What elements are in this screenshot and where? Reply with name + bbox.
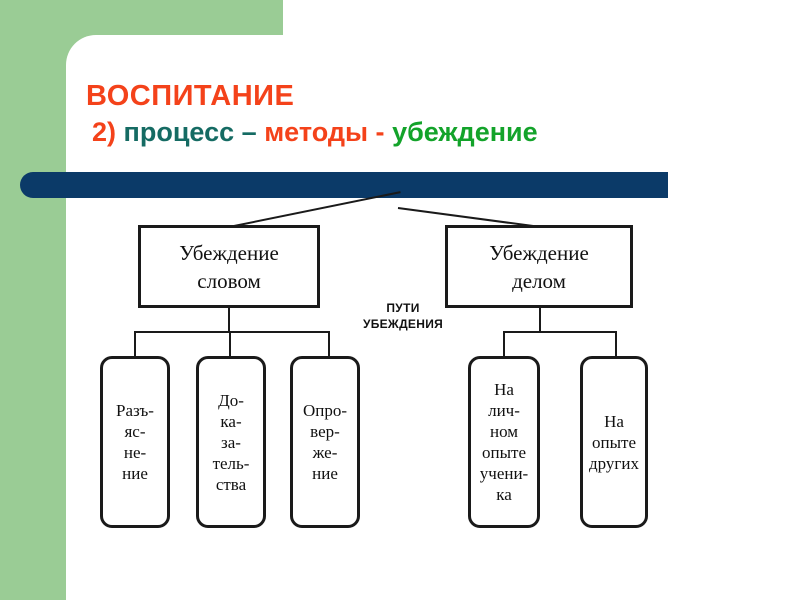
node-own-experience-line-6: ка [496, 484, 512, 505]
node-refutation-line-1: Опро- [303, 400, 347, 421]
node-explanation-line-2: яс- [124, 421, 145, 442]
node-own-experience-line-4: опыте [482, 442, 526, 463]
persuasion-methods-diagram: Убеждение словом Убеждение делом ПУТИ УБ… [0, 0, 800, 600]
node-proof[interactable]: До- ка- за- тель- ства [196, 356, 266, 528]
node-explanation[interactable]: Разъ- яс- не- ние [100, 356, 170, 528]
diagram-center-caption-line-2: УБЕЖДЕНИЯ [348, 316, 458, 332]
node-others-experience-line-2: опыте [592, 432, 636, 453]
node-refutation-line-3: же- [313, 442, 338, 463]
connector-word-to-proof [229, 331, 231, 357]
node-own-experience[interactable]: На лич- ном опыте учени- ка [468, 356, 540, 528]
node-proof-line-3: за- [221, 432, 241, 453]
connector-word-to-explanation [134, 331, 136, 357]
node-persuasion-by-word-line-2: словом [197, 267, 260, 295]
node-proof-line-5: ства [216, 474, 246, 495]
diagram-center-caption: ПУТИ УБЕЖДЕНИЯ [348, 300, 458, 332]
node-explanation-line-3: не- [124, 442, 146, 463]
connector-word-to-refutation [328, 331, 330, 357]
node-own-experience-line-5: учени- [480, 463, 528, 484]
node-proof-line-1: До- [218, 390, 244, 411]
connector-apex-to-word [229, 191, 401, 228]
node-explanation-line-4: ние [122, 463, 148, 484]
node-proof-line-4: тель- [213, 453, 250, 474]
connector-deed-stem [539, 308, 541, 332]
slide-canvas: ВОСПИТАНИЕ 2) процесс – методы - убежден… [0, 0, 800, 600]
node-refutation-line-4: ние [312, 463, 338, 484]
node-own-experience-line-3: ном [490, 421, 518, 442]
connector-deed-to-others-experience [615, 331, 617, 357]
node-own-experience-line-1: На [494, 379, 514, 400]
node-own-experience-line-2: лич- [488, 400, 520, 421]
node-others-experience-line-3: других [589, 453, 639, 474]
node-refutation[interactable]: Опро- вер- же- ние [290, 356, 360, 528]
node-proof-line-2: ка- [220, 411, 241, 432]
node-persuasion-by-deed-line-1: Убеждение [489, 239, 589, 267]
connector-deed-bus [503, 331, 617, 333]
connector-word-bus [134, 331, 330, 333]
node-persuasion-by-word[interactable]: Убеждение словом [138, 225, 320, 308]
node-explanation-line-1: Разъ- [116, 400, 154, 421]
connector-word-stem [228, 308, 230, 332]
node-persuasion-by-deed[interactable]: Убеждение делом [445, 225, 633, 308]
diagram-center-caption-line-1: ПУТИ [348, 300, 458, 316]
node-refutation-line-2: вер- [310, 421, 340, 442]
connector-deed-to-own-experience [503, 331, 505, 357]
node-persuasion-by-deed-line-2: делом [512, 267, 566, 295]
node-persuasion-by-word-line-1: Убеждение [179, 239, 279, 267]
node-others-experience[interactable]: На опыте других [580, 356, 648, 528]
node-others-experience-line-1: На [604, 411, 624, 432]
